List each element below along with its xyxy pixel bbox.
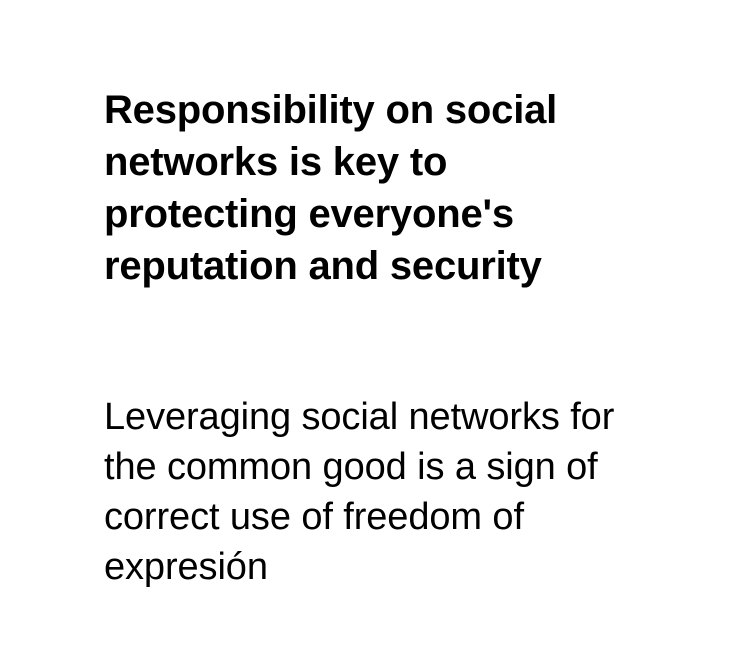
body-paragraph: Leveraging social networks for the commo… bbox=[104, 392, 628, 592]
text-content-column: Responsibility on social networks is key… bbox=[104, 84, 628, 592]
page-title: Responsibility on social networks is key… bbox=[104, 84, 628, 292]
body-paragraph-block: Leveraging social networks for the commo… bbox=[104, 292, 628, 592]
document-page: Responsibility on social networks is key… bbox=[0, 0, 750, 650]
